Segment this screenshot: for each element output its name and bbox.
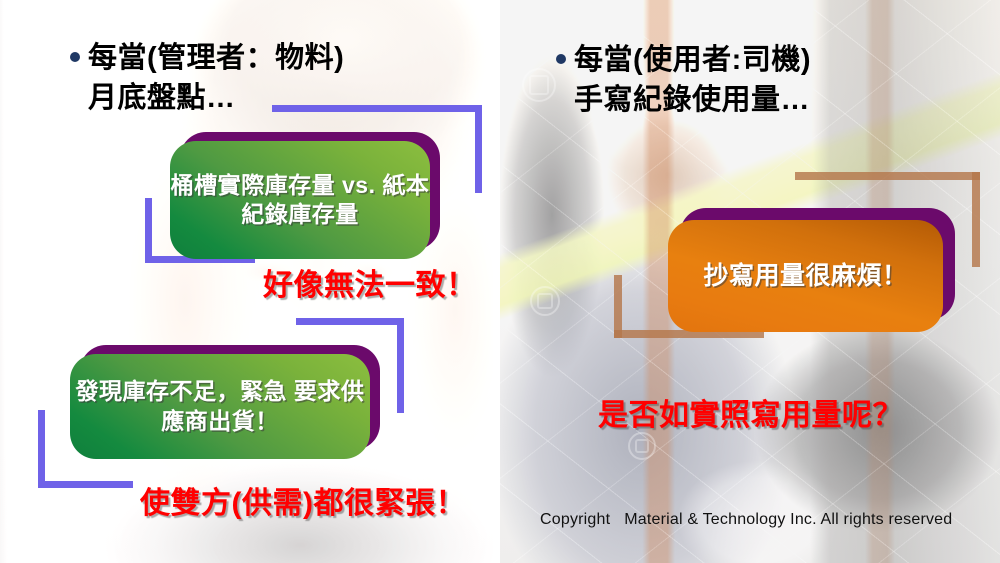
left-panel: 每當(管理者：物料) 月底盤點… 桶槽實際庫存量 vs. 紙本紀錄庫存量 好像無…	[0, 0, 493, 563]
emphasis-truthful-record-question: 是否如實照寫用量呢？	[598, 390, 903, 434]
emphasis-both-sides-tense: 使雙方(供需)都很緊張！	[140, 478, 466, 522]
bullet-dot-icon	[556, 54, 566, 64]
right-panel: 每當(使用者:司機) 手寫紀錄使用量… 抄寫用量很麻煩！ 是否如實照寫用量呢？ …	[500, 0, 1000, 563]
callout-inventory-compare: 桶槽實際庫存量 vs. 紙本紀錄庫存量	[170, 141, 430, 259]
slide-canvas: 每當(管理者：物料) 月底盤點… 桶槽實際庫存量 vs. 紙本紀錄庫存量 好像無…	[0, 0, 1000, 563]
bullet-dot-icon	[70, 52, 80, 62]
emphasis-mismatch: 好像無法一致！	[263, 260, 477, 304]
right-heading: 每當(使用者:司機) 手寫紀錄使用量…	[574, 40, 974, 120]
left-heading: 每當(管理者：物料) 月底盤點…	[88, 38, 488, 118]
callout-manual-copy-troublesome: 抄寫用量很麻煩！	[668, 220, 943, 332]
copyright-notice: Copyright Material & Technology Inc. All…	[540, 511, 952, 529]
callout-shortage-urgent-order: 發現庫存不足，緊急 要求供應商出貨！	[70, 354, 370, 459]
